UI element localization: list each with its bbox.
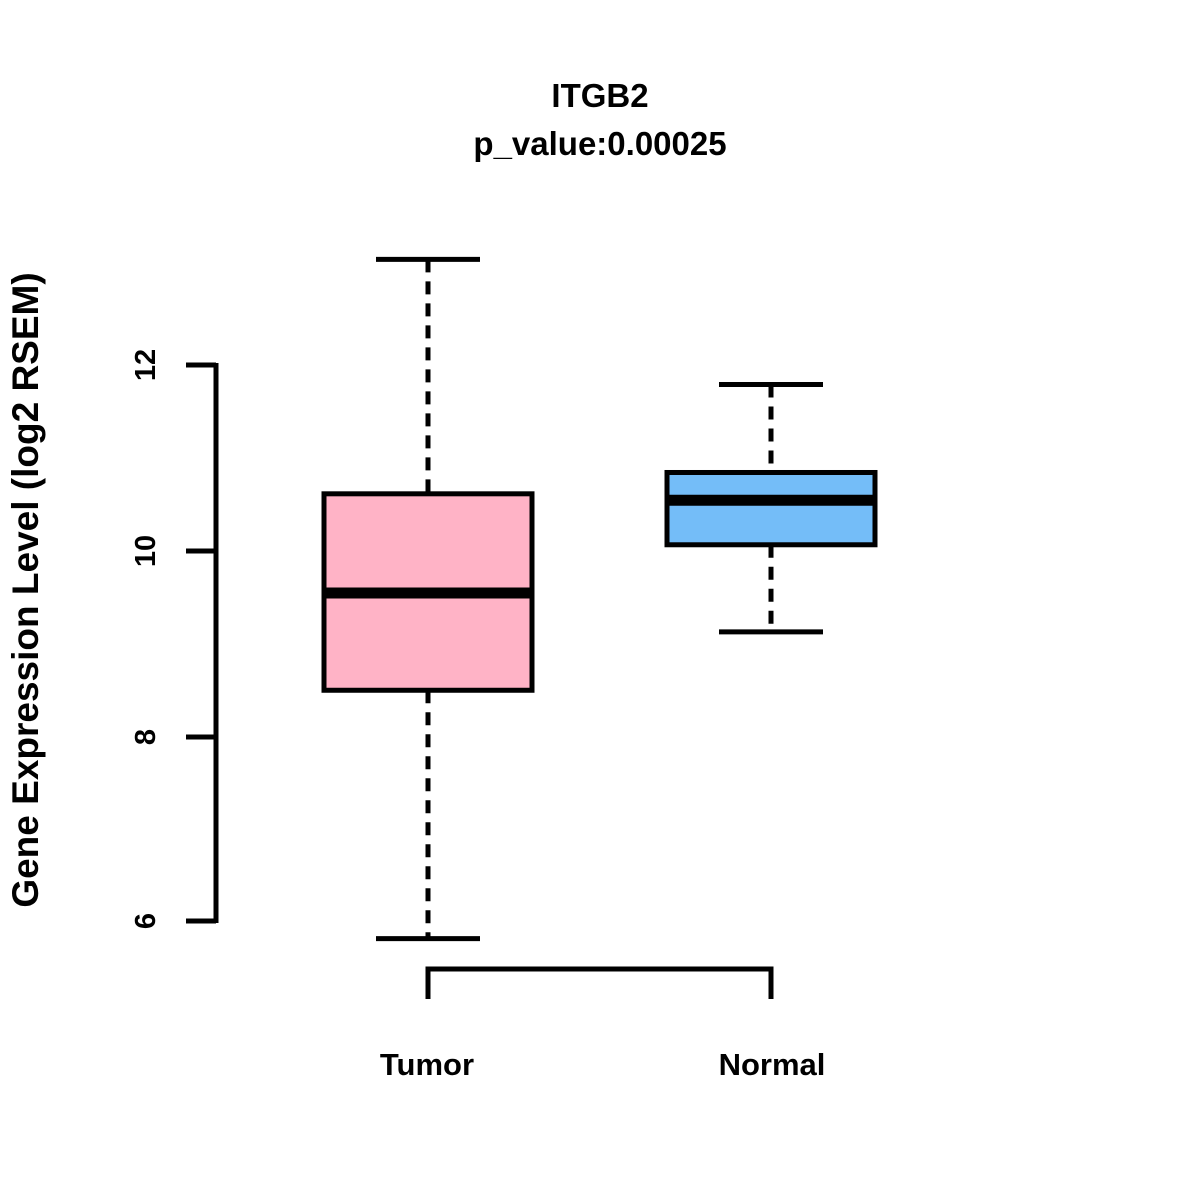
y-axis-title: Gene Expression Level (log2 RSEM) bbox=[5, 272, 46, 907]
y-tick-label-12: 12 bbox=[130, 349, 162, 381]
boxplot-figure: ITGB2 p_value:0.00025 Gene Expression Le… bbox=[0, 0, 1200, 1200]
y-tick-label-6: 6 bbox=[130, 913, 162, 929]
chart-title: ITGB2 bbox=[551, 77, 648, 114]
x-axis-bracket bbox=[428, 969, 771, 999]
y-axis-ticks bbox=[186, 365, 216, 921]
plot-canvas: ITGB2 p_value:0.00025 Gene Expression Le… bbox=[0, 0, 1200, 1200]
y-tick-label-10: 10 bbox=[130, 535, 162, 567]
y-axis-tick-labels: 12 10 8 6 bbox=[130, 349, 162, 929]
chart-subtitle-pvalue: p_value:0.00025 bbox=[473, 125, 726, 162]
box-group-normal bbox=[665, 384, 877, 631]
x-axis-label-tumor: Tumor bbox=[380, 1047, 474, 1082]
y-tick-label-8: 8 bbox=[130, 729, 162, 745]
normal-iqr-box bbox=[667, 472, 875, 544]
box-group-tumor bbox=[322, 259, 534, 938]
x-axis-label-normal: Normal bbox=[719, 1047, 826, 1082]
